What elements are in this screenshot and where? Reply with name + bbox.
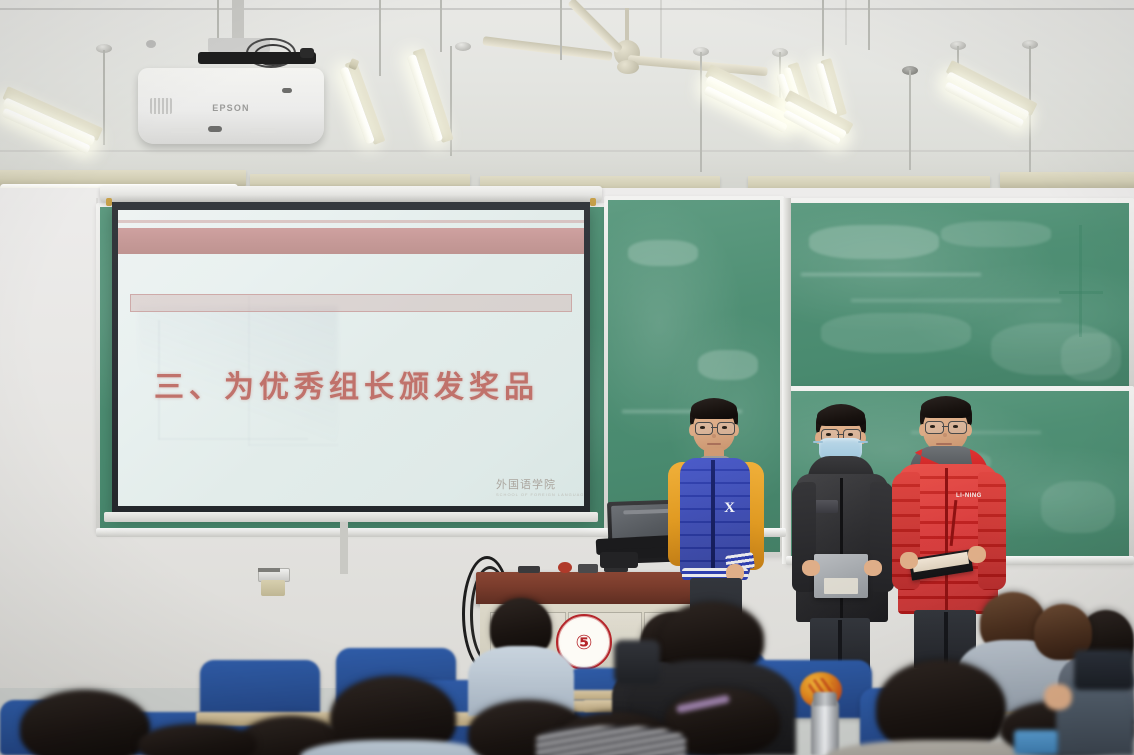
vest-badge: X <box>721 498 738 518</box>
ceiling-beam <box>0 170 246 186</box>
classroom-photo: EPSON <box>0 0 1134 755</box>
slide-logo-subtitle: SCHOOL OF FOREIGN LANGUAGES <box>496 492 584 497</box>
hair-top <box>691 399 737 419</box>
hand <box>864 560 882 576</box>
glasses <box>717 422 735 435</box>
seat[interactable] <box>200 660 320 720</box>
audience-shoulder <box>536 726 686 755</box>
audience-head <box>20 690 150 755</box>
chalkboard-right-upper <box>786 198 1134 394</box>
seal-glyph: ⑤ <box>576 632 593 652</box>
slide-logo: 外国语学院 <box>496 476 556 492</box>
slide-title: 三、为优秀组长颁发奖品 <box>154 362 539 406</box>
blue-object <box>1014 730 1058 755</box>
ceiling-disc <box>455 42 471 51</box>
ceiling-beam <box>1000 172 1134 188</box>
hand <box>1044 684 1072 710</box>
hair-top <box>921 397 971 418</box>
hand <box>968 546 986 563</box>
projector-brand-label: EPSON <box>212 103 250 113</box>
projection-screen: 三、为优秀组长颁发奖品 外国语学院 SCHOOL OF FOREIGN LANG… <box>112 202 590 514</box>
slide-header-band <box>118 228 584 254</box>
thermos-cap <box>813 692 837 706</box>
hand <box>802 560 820 576</box>
glasses <box>695 422 713 435</box>
jacket-brand-mark: LI-NING <box>956 492 986 501</box>
presenter-middle: ✕ <box>786 404 902 672</box>
glasses <box>948 421 967 434</box>
backpack <box>614 640 660 684</box>
glasses <box>925 421 944 434</box>
hair-top <box>817 406 865 426</box>
backpack <box>1074 650 1134 690</box>
thermos <box>811 700 839 755</box>
screen-roller-housing <box>100 186 602 202</box>
gift-box <box>814 554 868 598</box>
slide-rule-box <box>130 294 572 312</box>
hand <box>900 552 918 569</box>
